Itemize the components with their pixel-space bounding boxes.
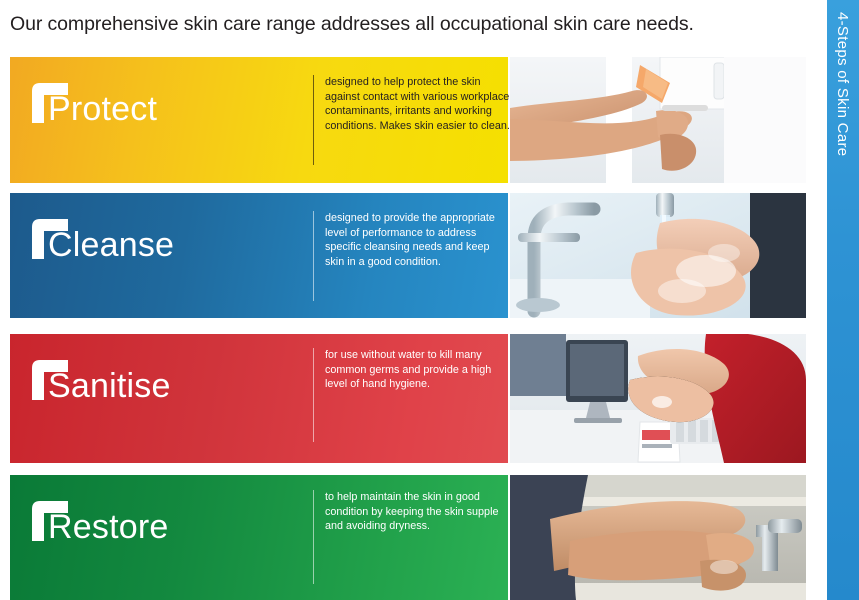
- vertical-divider: [313, 490, 314, 584]
- step-photo-restore: [510, 475, 806, 600]
- vertical-divider: [313, 211, 314, 301]
- step-row-sanitise[interactable]: Sanitise Highly effective hand sanitiser…: [10, 334, 806, 463]
- sidebar-skin-care-steps: 4-Steps of Skin Care: [827, 0, 859, 600]
- step-name-restore: Restore: [48, 510, 168, 544]
- step-name-protect: Protect: [48, 92, 157, 126]
- skin-care-infographic: Our comprehensive skin care range addres…: [0, 0, 859, 600]
- step-photo-cleanse: [510, 193, 806, 318]
- step-description-cleanse: designed to provide the appropriate leve…: [325, 211, 511, 269]
- step-name-cleanse: Cleanse: [48, 228, 174, 262]
- sidebar-label: 4-Steps of Skin Care: [827, 0, 859, 600]
- step-photo-sanitise: [510, 334, 806, 463]
- vertical-divider: [313, 75, 314, 165]
- step-row-cleanse[interactable]: Cleanse A range of hand cleansers design…: [10, 193, 806, 318]
- step-row-protect[interactable]: Protect Pre-work skin protect creams des…: [10, 57, 806, 183]
- step-row-restore[interactable]: Restore After-work skin restore creams t…: [10, 475, 806, 600]
- step-photo-protect: [510, 57, 806, 183]
- vertical-divider: [313, 348, 314, 442]
- step-name-sanitise: Sanitise: [48, 369, 171, 403]
- step-description-protect: designed to help protect the skin agains…: [325, 75, 511, 133]
- step-description-sanitise: for use without water to kill many commo…: [325, 348, 511, 392]
- page-title: Our comprehensive skin care range addres…: [10, 13, 810, 36]
- step-description-restore: to help maintain the skin in good condit…: [325, 490, 511, 534]
